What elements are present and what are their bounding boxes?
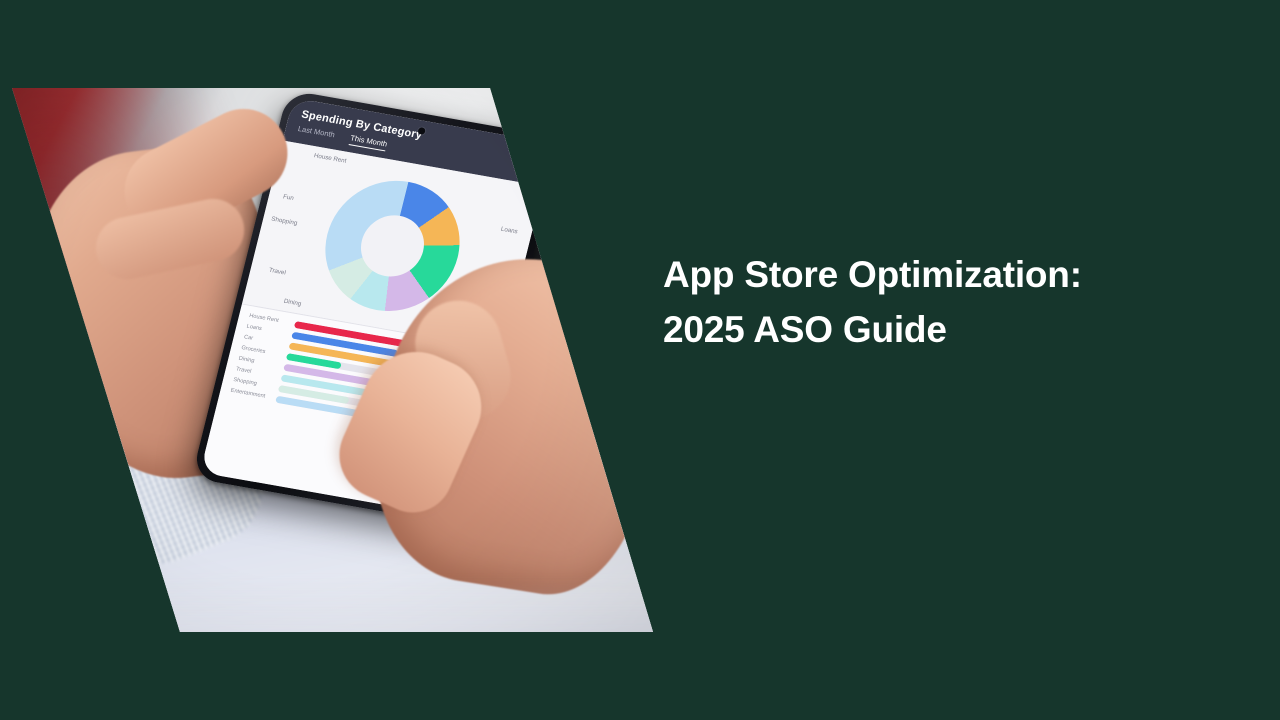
page-title-line-1: App Store Optimization: [663,248,1223,303]
page-title: App Store Optimization: 2025 ASO Guide [663,248,1223,358]
page-title-line-2: 2025 ASO Guide [663,303,1223,358]
photo-bottom-blur [0,580,680,720]
donut-label-shopping: Shopping [271,216,299,227]
hamburger-icon[interactable] [519,166,536,178]
donut-label-fun: Fun [282,193,294,202]
tab-last-month[interactable]: Last Month [296,124,336,142]
donut-label-travel: Travel [268,267,286,277]
donut-label-dining: Dining [283,298,302,308]
list-item-label: Entertainment [230,388,271,401]
tab-this-month[interactable]: This Month [349,133,389,151]
donut-label-loans: Loans [500,226,518,236]
donut-label-house-rent: House Rent [313,152,347,164]
hero-photo: Spending By Category Last Month This Mon… [0,0,680,720]
